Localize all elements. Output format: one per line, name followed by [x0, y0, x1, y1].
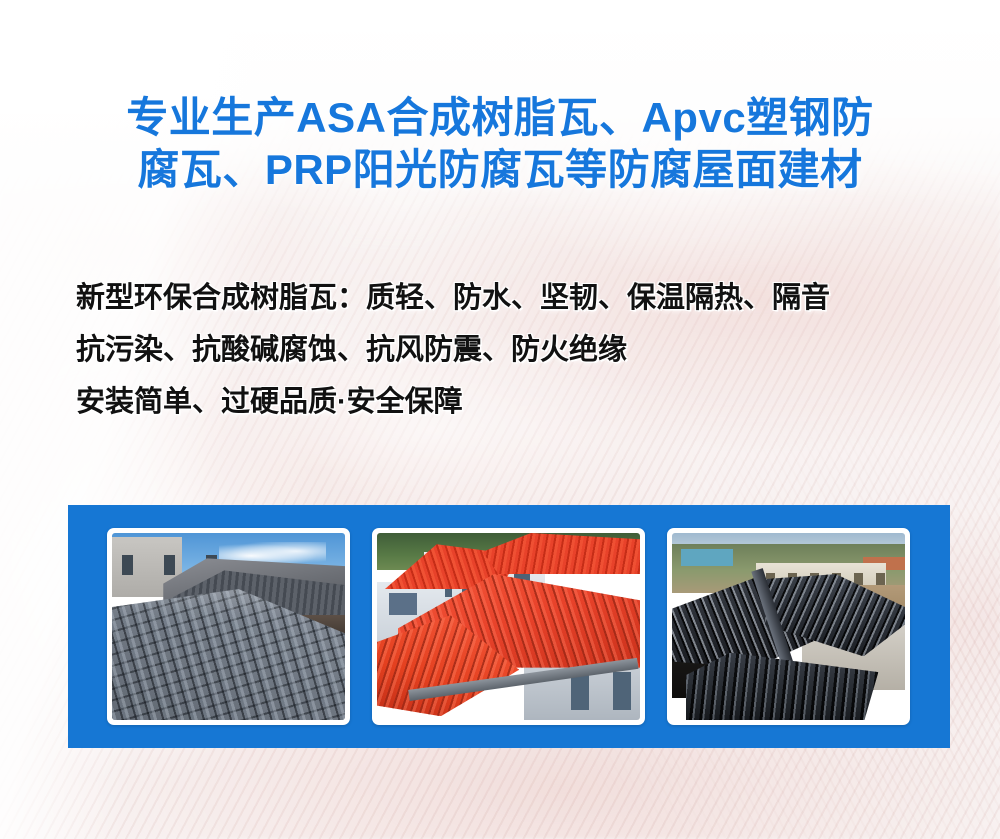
photo-card-red-roof[interactable]: [372, 528, 645, 725]
subtitle-line-1: 新型环保合成树脂瓦：质轻、防水、坚韧、保温隔热、隔音: [76, 272, 976, 324]
headline-line-1: 专业生产ASA合成树脂瓦、Apvc塑钢防: [0, 92, 1000, 144]
headline-line-2: 腐瓦、PRP阳光防腐瓦等防腐屋面建材: [0, 144, 1000, 196]
product-photo-gallery: [68, 505, 950, 748]
grey-resin-tile-roof-photo: [112, 533, 345, 720]
promo-banner: 专业生产ASA合成树脂瓦、Apvc塑钢防 腐瓦、PRP阳光防腐瓦等防腐屋面建材 …: [0, 0, 1000, 839]
subtitle-line-2: 抗污染、抗酸碱腐蚀、抗风防震、防火绝缘: [76, 324, 976, 376]
banner-subtitle: 新型环保合成树脂瓦：质轻、防水、坚韧、保温隔热、隔音 抗污染、抗酸碱腐蚀、抗风防…: [76, 272, 976, 428]
photo-card-grey-roof[interactable]: [107, 528, 350, 725]
photo-card-black-roof[interactable]: [667, 528, 910, 725]
red-resin-tile-roof-photo: [377, 533, 640, 720]
subtitle-line-3: 安装简单、过硬品质·安全保障: [76, 376, 976, 428]
black-resin-tile-roof-photo: [672, 533, 905, 720]
banner-headline: 专业生产ASA合成树脂瓦、Apvc塑钢防 腐瓦、PRP阳光防腐瓦等防腐屋面建材: [0, 92, 1000, 196]
